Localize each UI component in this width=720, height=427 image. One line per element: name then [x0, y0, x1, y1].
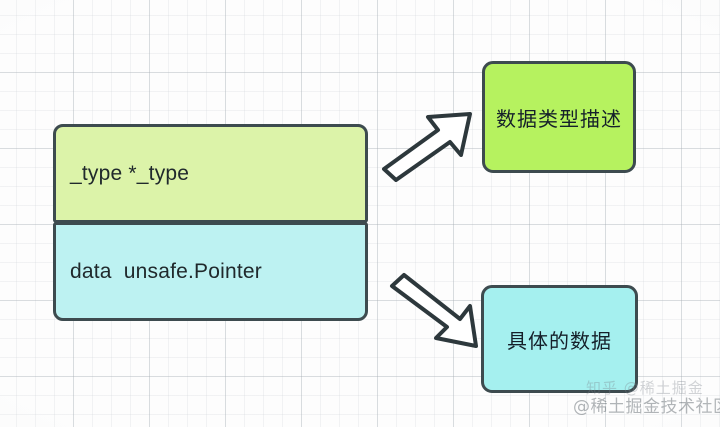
concrete-data-box: 具体的数据	[481, 285, 638, 393]
struct-row-data: data unsafe.Pointer	[53, 222, 368, 321]
arrow-to-concrete-data-icon	[384, 272, 484, 357]
struct-row-type-label: _type *_type	[56, 162, 189, 186]
arrow-to-type-description-icon	[378, 108, 478, 189]
diagram-canvas: _type *_type data unsafe.Pointer 数据类型描述 …	[0, 0, 720, 427]
concrete-data-label: 具体的数据	[507, 325, 612, 354]
struct-row-type: _type *_type	[53, 124, 368, 223]
watermark-lower: @稀土掘金技术社区	[573, 392, 720, 417]
type-description-box: 数据类型描述	[482, 61, 636, 173]
struct-row-data-label: data unsafe.Pointer	[56, 260, 262, 284]
type-description-label: 数据类型描述	[496, 103, 622, 132]
